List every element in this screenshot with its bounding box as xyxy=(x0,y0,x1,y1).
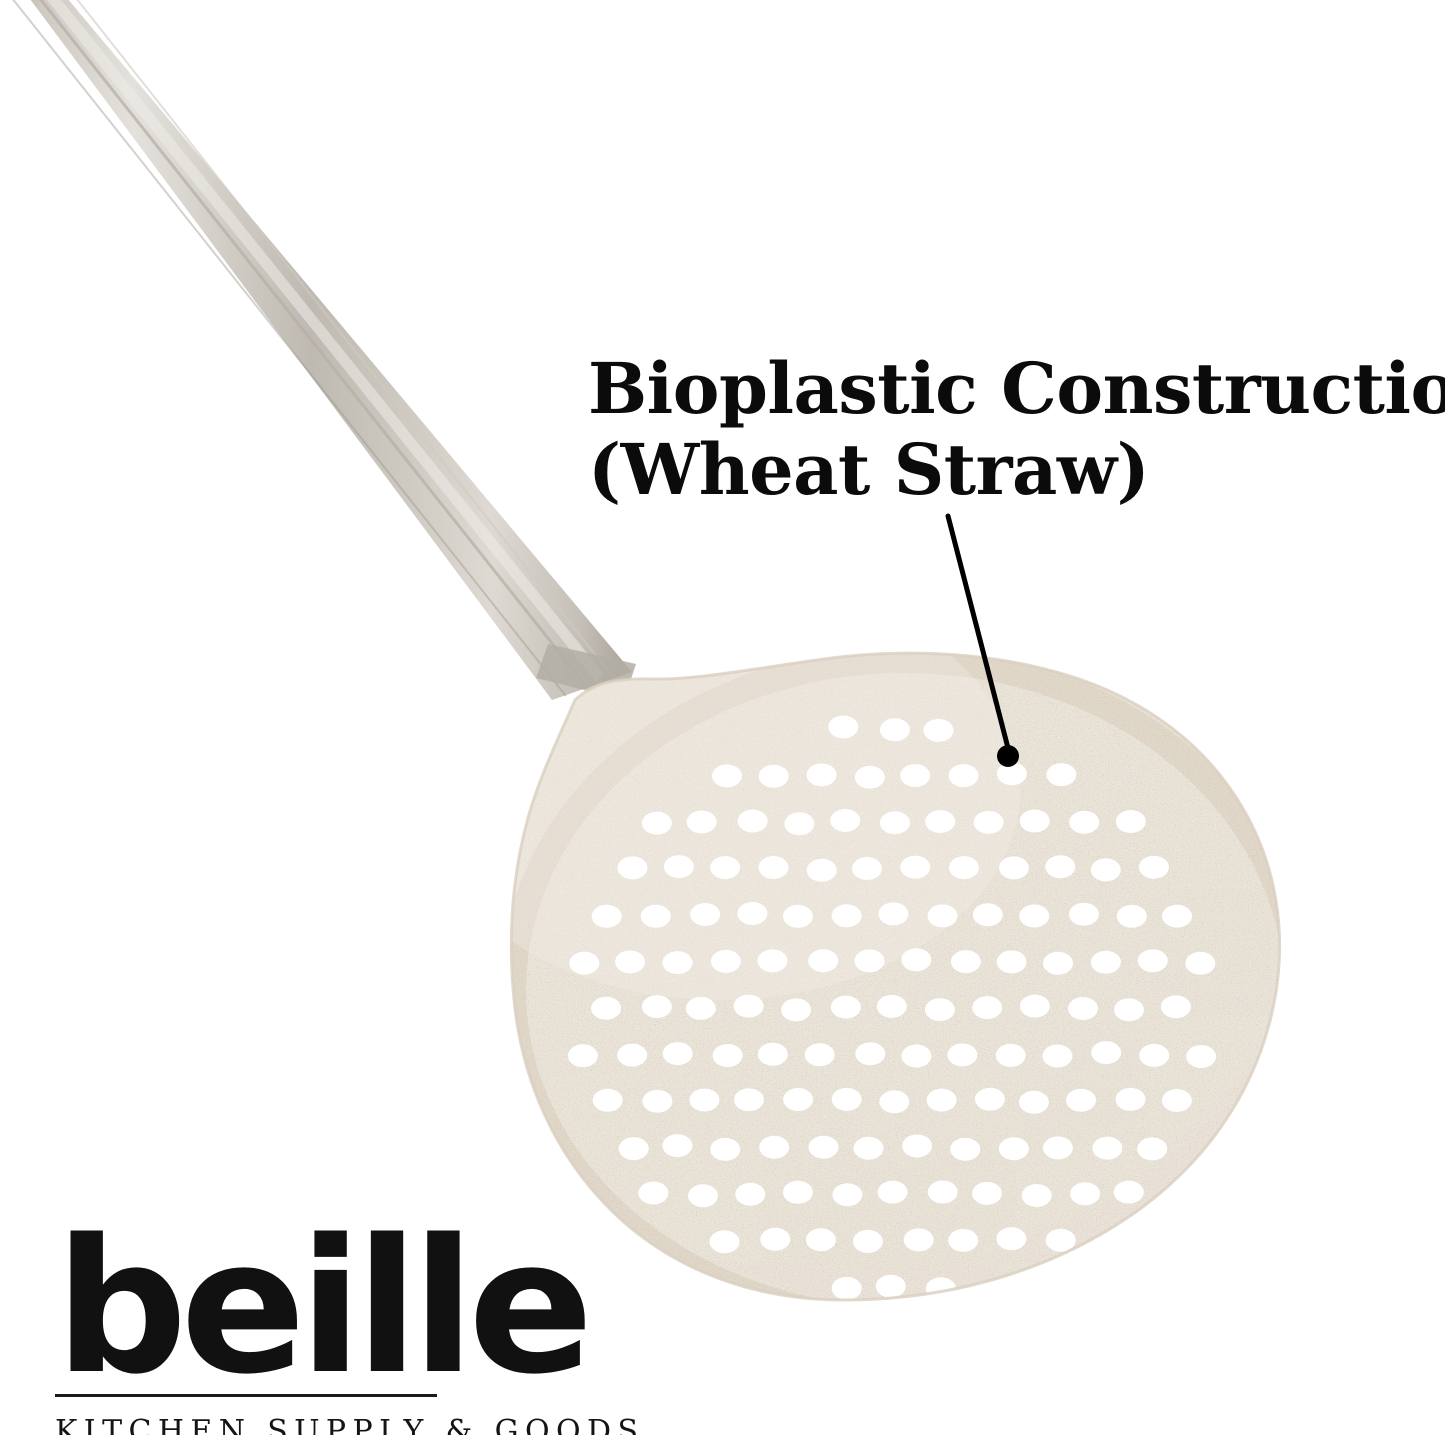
brand-logo: beille KITCHEN SUPPLY & GOODS xyxy=(55,1232,450,1435)
callout-line-1: Bioplastic Construction xyxy=(588,348,1445,429)
stainless-steel-handle xyxy=(0,0,636,700)
feature-callout-text: Bioplastic Construction (Wheat Straw) xyxy=(588,348,1445,510)
brand-wordmark: beille xyxy=(55,1232,450,1380)
leader-dot xyxy=(997,745,1019,767)
callout-line-2: (Wheat Straw) xyxy=(588,429,1445,510)
product-image-canvas: Bioplastic Construction (Wheat Straw) be… xyxy=(0,0,1445,1435)
brand-tagline: KITCHEN SUPPLY & GOODS xyxy=(55,1414,450,1435)
